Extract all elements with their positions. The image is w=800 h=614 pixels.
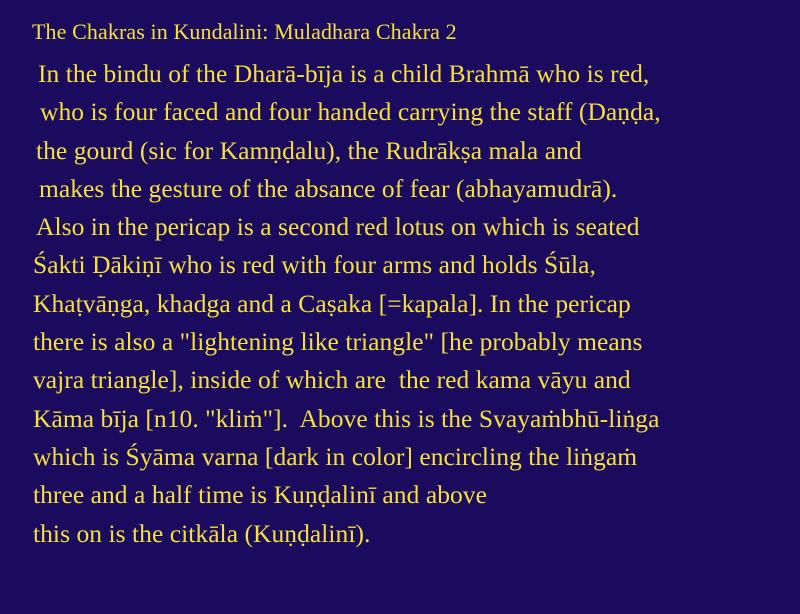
slide-title: The Chakras in Kundalini: Muladhara Chak… <box>32 18 457 46</box>
body-line: who is four faced and four handed carryi… <box>30 93 790 131</box>
presentation-slide: The Chakras in Kundalini: Muladhara Chak… <box>0 0 800 614</box>
body-line: Also in the pericap is a second red lotu… <box>30 208 790 246</box>
body-line: vajra triangle], inside of which are the… <box>30 361 790 399</box>
body-line: the gourd (sic for Kamṇḍalu), the Rudrāk… <box>30 132 790 170</box>
body-line: makes the gesture of the absance of fear… <box>30 170 790 208</box>
body-line: Śakti Ḍākiṇī who is red with four arms a… <box>30 246 790 284</box>
body-line: Kāma bīja [n10. "kliṁ"]. Above this is t… <box>30 400 790 438</box>
body-line: there is also a "lightening like triangl… <box>30 323 790 361</box>
slide-body-text: In the bindu of the Dharā-bīja is a chil… <box>30 55 790 553</box>
body-line: which is Śyāma varna [dark in color] enc… <box>30 438 790 476</box>
body-line: Khaṭvāṇga, khadga and a Caṣaka [=kapala]… <box>30 285 790 323</box>
body-line: three and a half time is Kuṇḍalinī and a… <box>30 476 790 514</box>
body-line: this on is the citkāla (Kuṇḍalinī). <box>30 515 790 553</box>
body-line: In the bindu of the Dharā-bīja is a chil… <box>30 55 790 93</box>
